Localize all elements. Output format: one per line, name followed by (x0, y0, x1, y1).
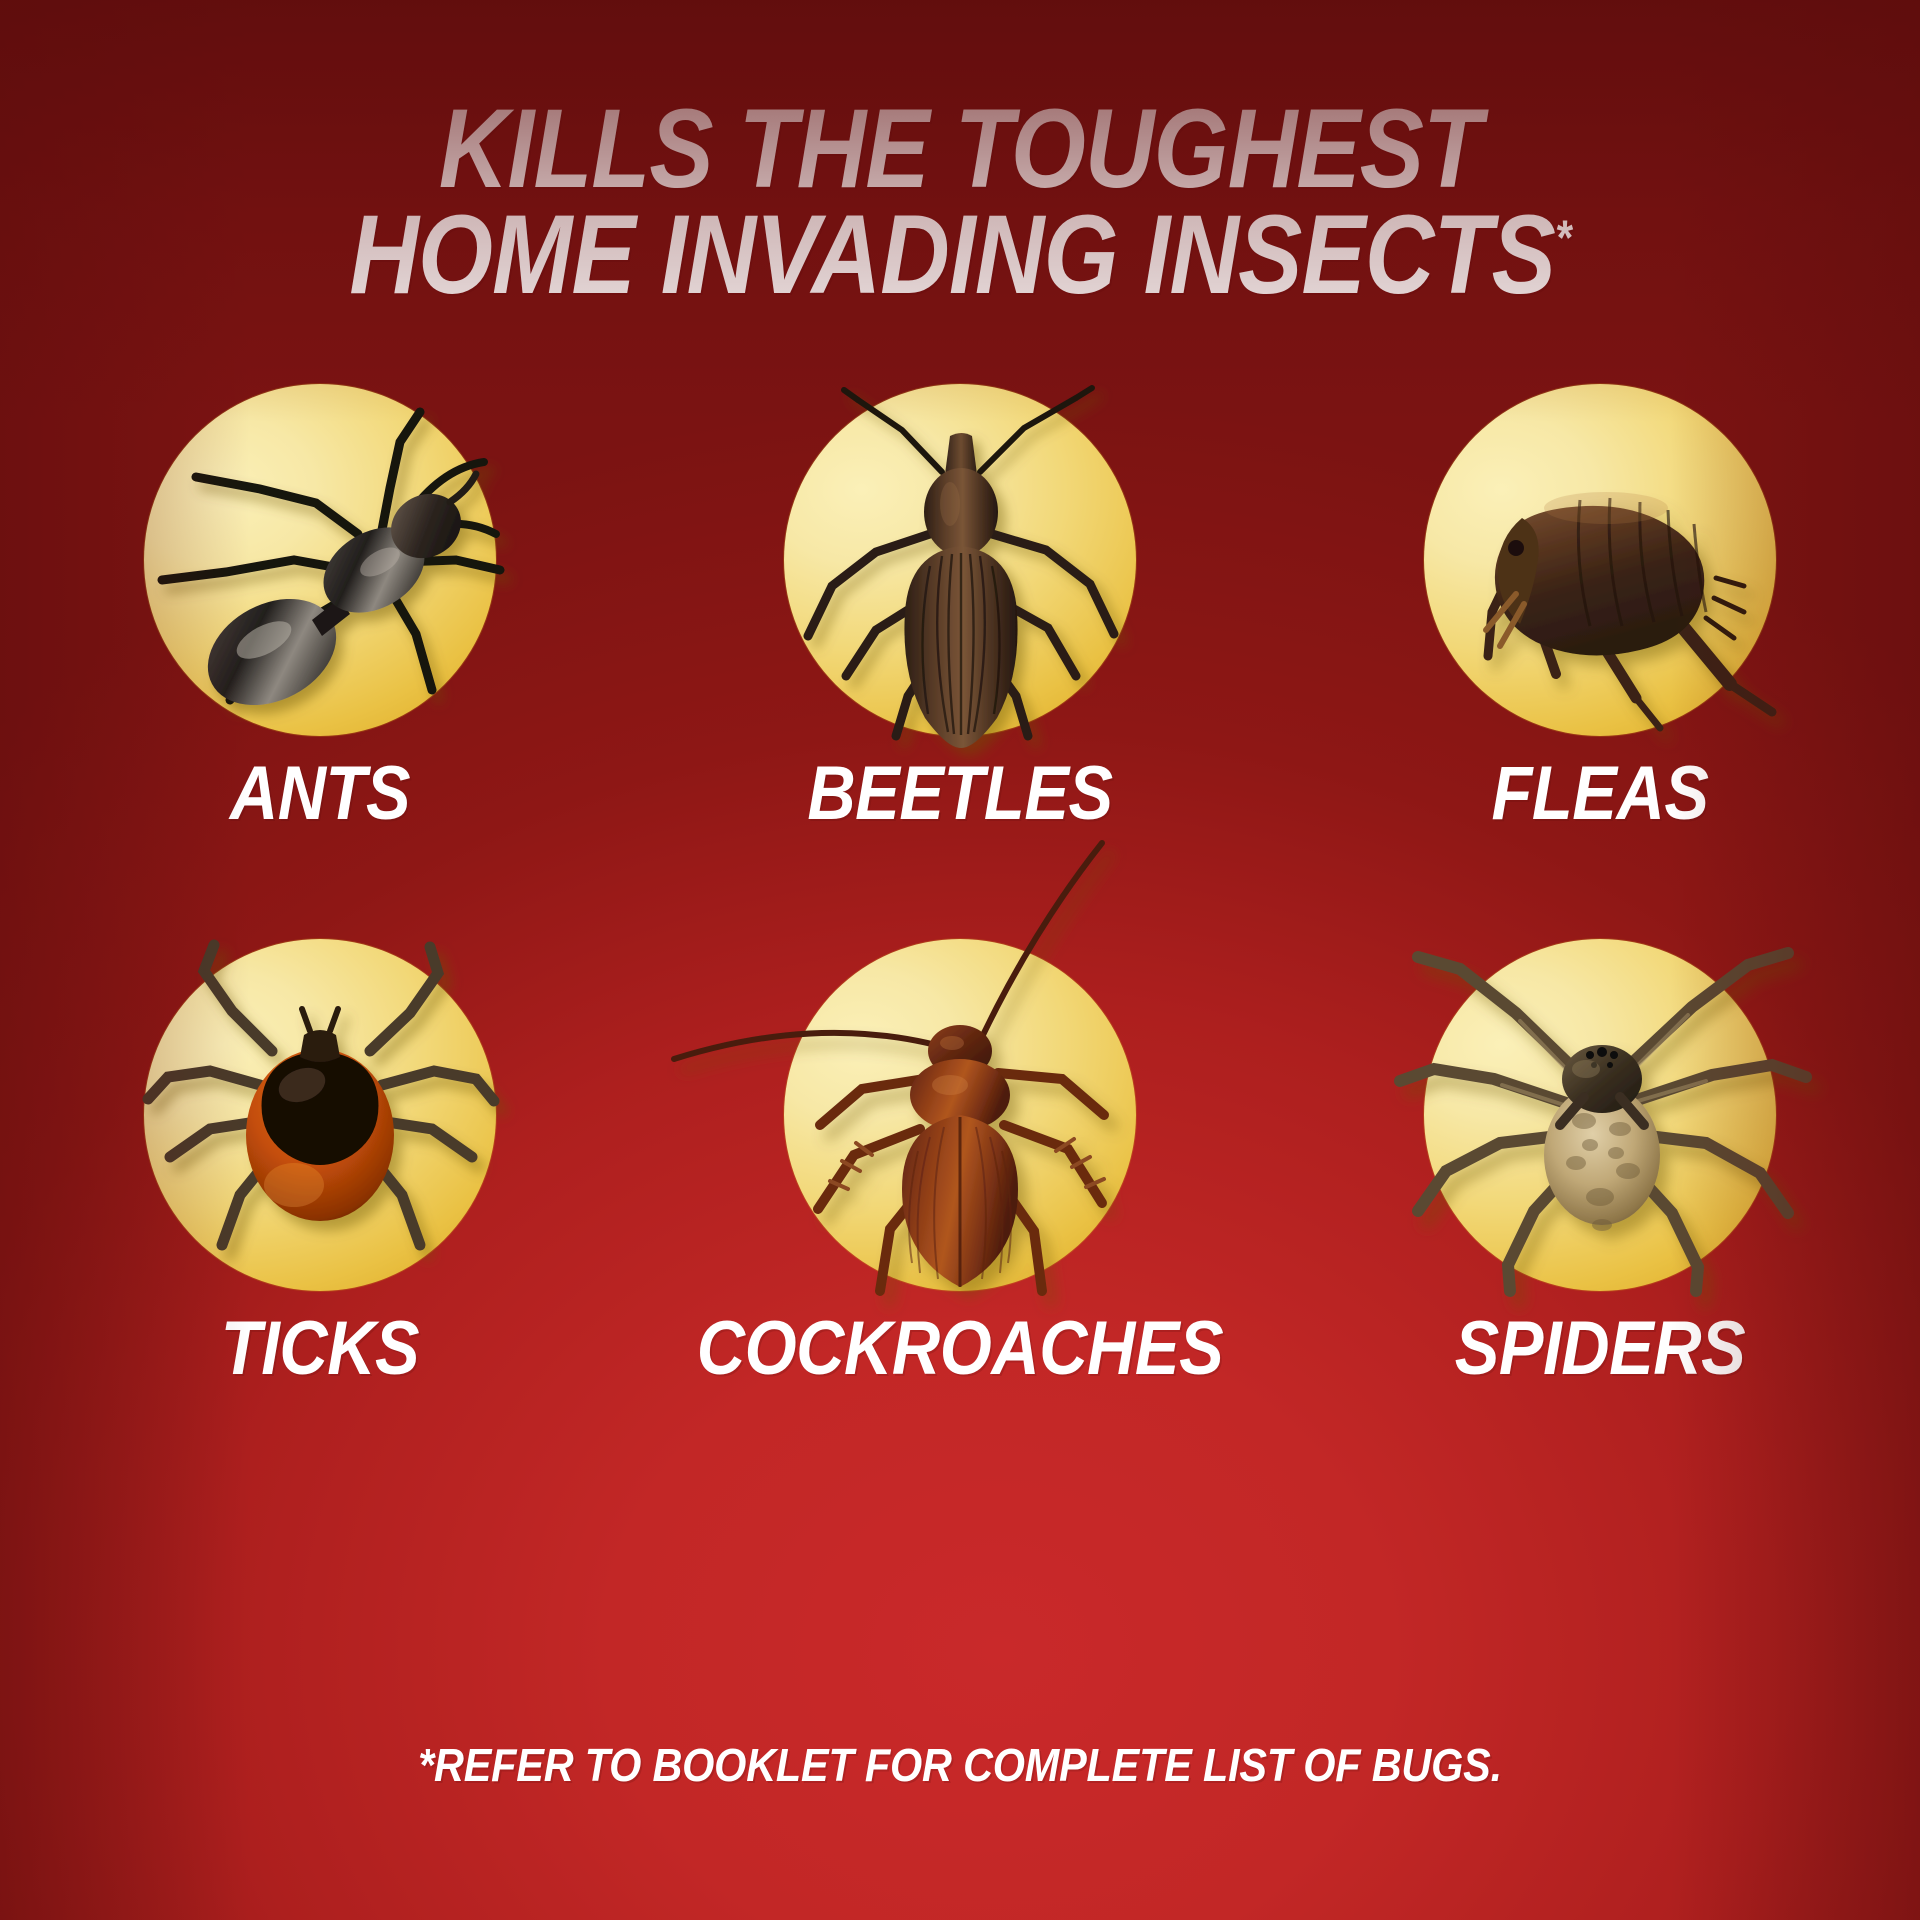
headline-asterisk: * (1555, 211, 1571, 266)
pest-row-1: ANTS (0, 372, 1920, 927)
spider-disc (1424, 939, 1776, 1291)
pest-cell-cockroaches[interactable]: COCKROACHES (640, 927, 1280, 1482)
pest-label-beetles: BEETLES (678, 756, 1241, 832)
ant-disc (144, 384, 496, 736)
poster-canvas: KILLS THE TOUGHEST HOME INVADING INSECTS… (0, 0, 1920, 1920)
pest-label-ants: ANTS (38, 756, 601, 832)
pest-grid: ANTS (0, 372, 1920, 1482)
tick-icon (144, 939, 496, 1291)
page-title: KILLS THE TOUGHEST HOME INVADING INSECTS… (134, 96, 1785, 309)
ant-icon (144, 384, 496, 736)
spider-icon (1424, 939, 1776, 1291)
beetle-disc (784, 384, 1136, 736)
flea-icon (1424, 384, 1776, 736)
cockroach-icon (784, 939, 1136, 1291)
pest-row-2: TICKS (0, 927, 1920, 1482)
pest-label-cockroaches: COCKROACHES (678, 1311, 1241, 1387)
pest-cell-ants[interactable]: ANTS (0, 372, 640, 927)
pest-cell-fleas[interactable]: FLEAS (1280, 372, 1920, 927)
flea-disc (1424, 384, 1776, 736)
headline-line-1: KILLS THE TOUGHEST (134, 96, 1785, 202)
pest-cell-spiders[interactable]: SPIDERS (1280, 927, 1920, 1482)
pest-label-fleas: FLEAS (1318, 756, 1881, 832)
pest-cell-ticks[interactable]: TICKS (0, 927, 640, 1482)
tick-disc (144, 939, 496, 1291)
headline-line-2-text: HOME INVADING INSECTS (349, 192, 1555, 317)
headline-line-2: HOME INVADING INSECTS* (134, 202, 1785, 308)
pest-label-spiders: SPIDERS (1318, 1311, 1881, 1387)
cockroach-disc (784, 939, 1136, 1291)
pest-cell-beetles[interactable]: BEETLES (640, 372, 1280, 927)
beetle-icon (784, 384, 1136, 736)
pest-label-ticks: TICKS (38, 1311, 601, 1387)
footnote-text: *REFER TO BOOKLET FOR COMPLETE LIST OF B… (96, 1742, 1824, 1788)
